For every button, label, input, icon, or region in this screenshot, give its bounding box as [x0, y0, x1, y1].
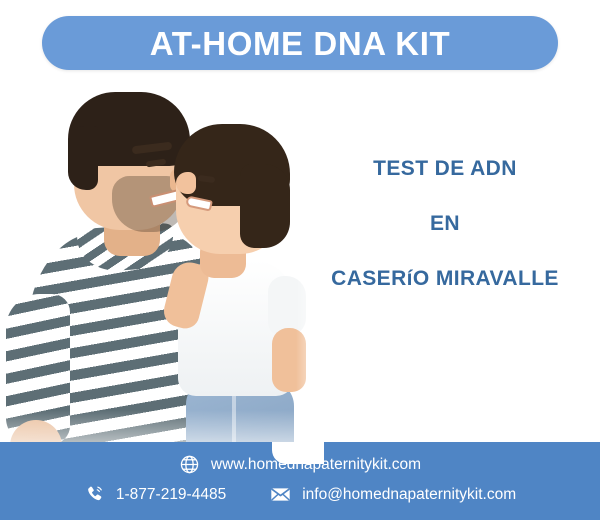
- poster-canvas: AT-HOME DNA KIT TEST DE AD: [0, 0, 600, 520]
- footer-email[interactable]: info@homednapaternitykit.com: [270, 484, 516, 505]
- envelope-icon: [270, 484, 291, 505]
- footer-phone-label: 1-877-219-4485: [116, 487, 226, 503]
- phone-icon: [84, 484, 105, 505]
- hero-photo: [0, 80, 330, 462]
- man-sideburn: [68, 126, 98, 190]
- footer-photo-notch: [272, 442, 324, 464]
- headline-line-2: EN: [300, 213, 590, 234]
- globe-icon: [179, 454, 200, 475]
- headline-block: TEST DE ADN EN CASERíO MIRAVALLE: [300, 158, 590, 289]
- footer-row-contact: 1-877-219-4485 info@homednapaternitykit.…: [0, 484, 600, 505]
- page-title: AT-HOME DNA KIT: [150, 27, 450, 60]
- headline-line-1: TEST DE ADN: [300, 158, 590, 179]
- header-banner: AT-HOME DNA KIT: [42, 16, 558, 70]
- child-nose: [176, 172, 196, 194]
- child-hair-back: [240, 164, 290, 248]
- headline-line-3: CASERíO MIRAVALLE: [300, 268, 590, 289]
- footer-email-label: info@homednapaternitykit.com: [302, 487, 516, 503]
- footer-phone[interactable]: 1-877-219-4485: [84, 484, 226, 505]
